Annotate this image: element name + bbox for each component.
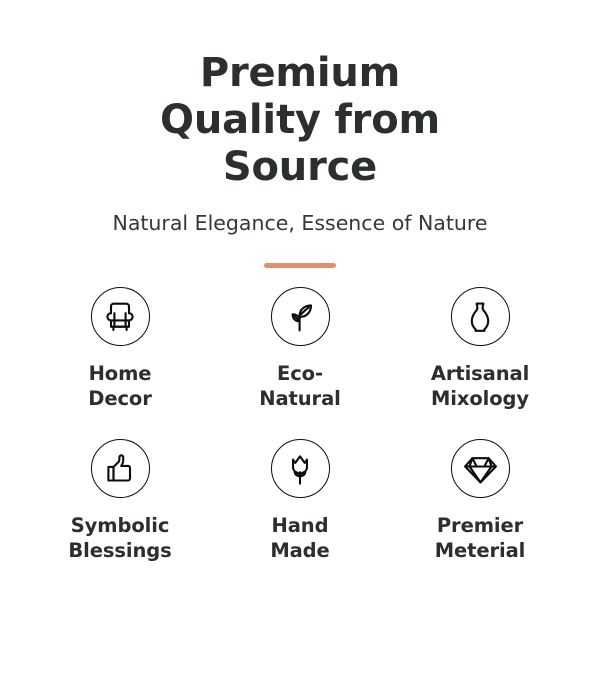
feature-item-premier-meterial[interactable]: Premier Meterial <box>390 439 570 563</box>
feature-label: Eco- Natural <box>259 362 340 411</box>
feature-label: Home Decor <box>88 362 152 411</box>
promo-banner: Premium Quality from Source Natural Eleg… <box>0 0 600 682</box>
feature-item-eco-natural[interactable]: Eco- Natural <box>210 287 390 411</box>
feature-label: Premier Meterial <box>435 514 526 563</box>
icon-badge <box>451 287 510 346</box>
feature-grid: Home Decor Eco- Natu <box>30 287 570 563</box>
seedling-icon <box>282 300 318 334</box>
icon-badge <box>91 287 150 346</box>
diamond-gem-icon <box>462 452 499 486</box>
armchair-icon <box>102 300 138 334</box>
icon-badge <box>451 439 510 498</box>
feature-label: Hand Made <box>270 514 329 563</box>
feature-item-artisanal-mixology[interactable]: Artisanal Mixology <box>390 287 570 411</box>
icon-badge <box>91 439 150 498</box>
tulip-flower-icon <box>283 451 317 487</box>
feature-item-symbolic-blessings[interactable]: Symbolic Blessings <box>30 439 210 563</box>
accent-divider <box>264 263 336 268</box>
page-subtitle: Natural Elegance, Essence of Nature <box>113 190 488 237</box>
feature-label: Artisanal Mixology <box>431 362 529 411</box>
divider-container <box>0 237 600 268</box>
vase-icon <box>462 299 498 335</box>
icon-badge <box>271 439 330 498</box>
feature-item-hand-made[interactable]: Hand Made <box>210 439 390 563</box>
feature-item-home-decor[interactable]: Home Decor <box>30 287 210 411</box>
page-title: Premium Quality from Source <box>135 0 465 190</box>
feature-label: Symbolic Blessings <box>68 514 171 563</box>
icon-badge <box>271 287 330 346</box>
thumbs-up-icon <box>103 452 137 486</box>
